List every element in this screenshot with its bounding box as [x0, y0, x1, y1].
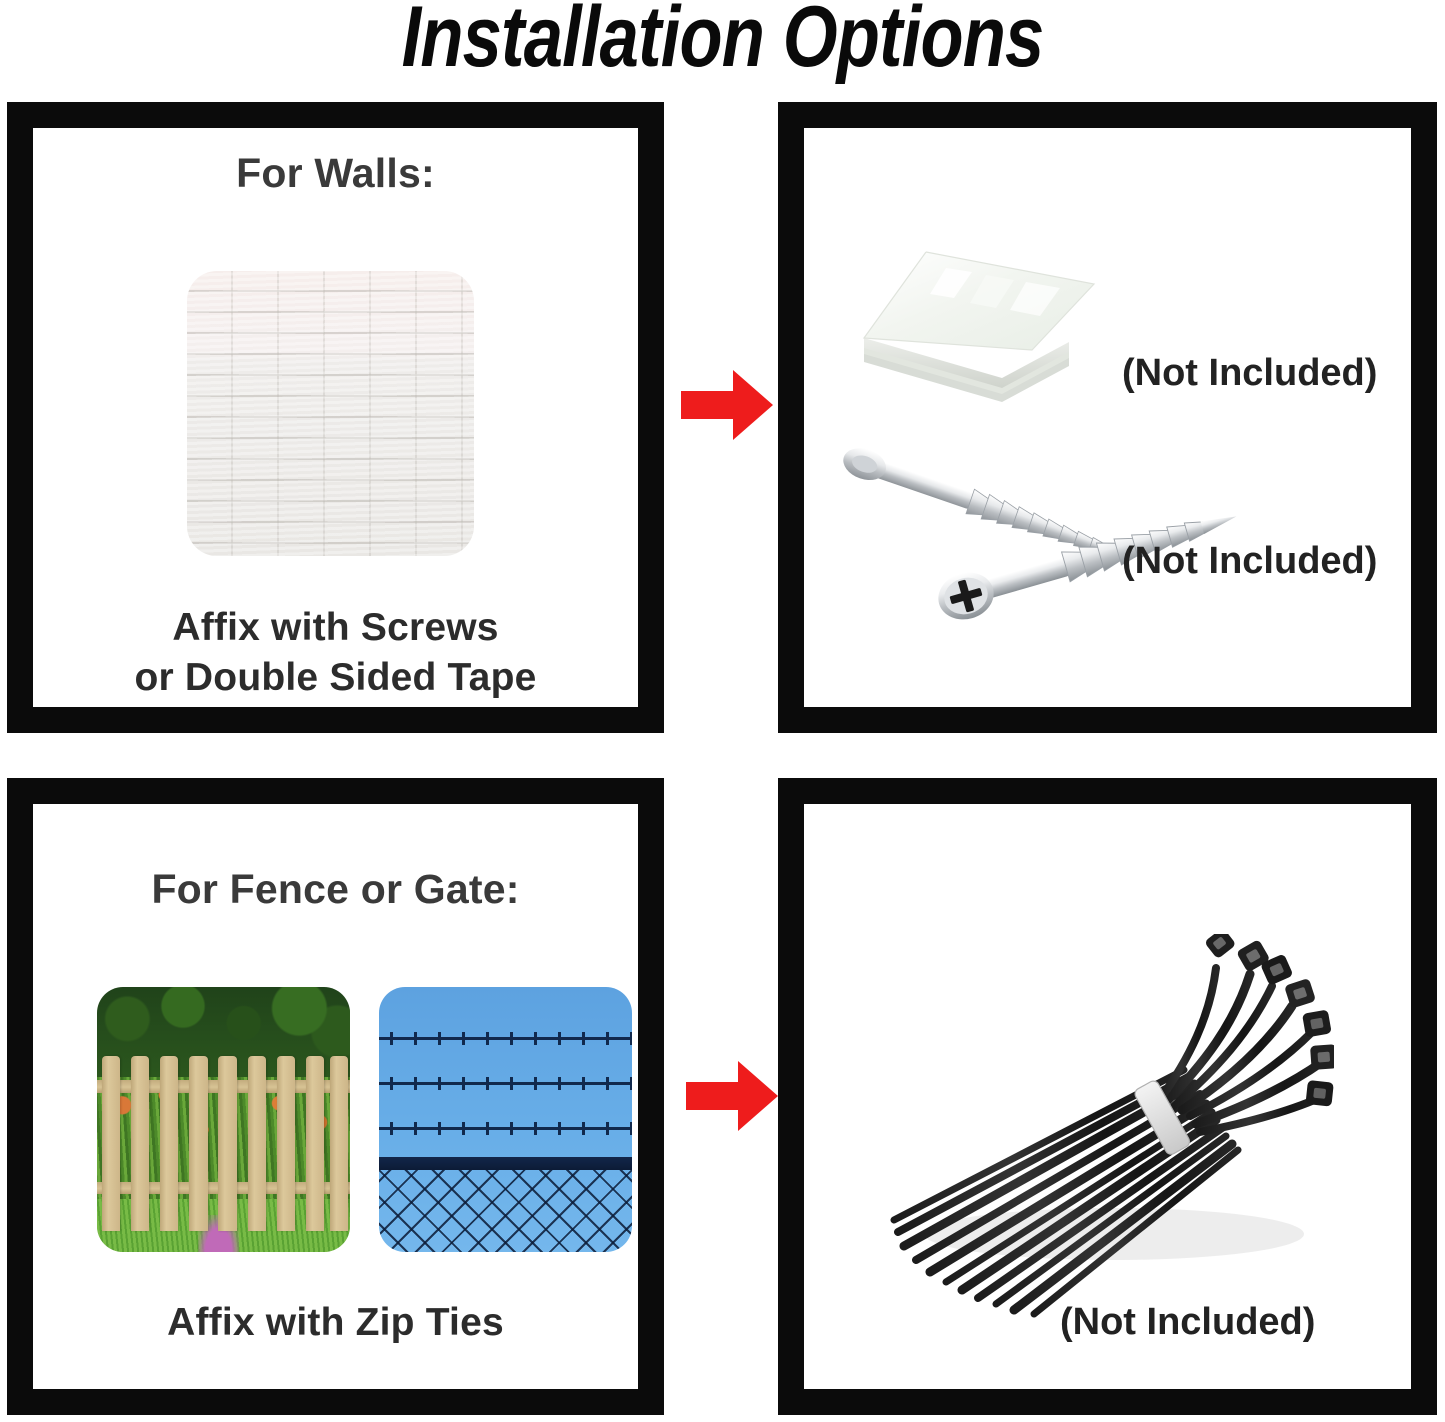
for-walls-heading: For Walls: [33, 150, 638, 197]
panel-for-fence-or-gate: For Fence or Gate: [7, 778, 664, 1415]
white-brick-wall-swatch [187, 271, 474, 556]
screws-not-included-label: (Not Included) [1122, 540, 1377, 583]
page-title: Installation Options [130, 0, 1315, 82]
panel-fence-hardware-content: (Not Included) [804, 804, 1411, 1389]
barbed-wire-strand [379, 1127, 632, 1130]
barbed-wire-strand [379, 1082, 632, 1085]
for-fence-heading: For Fence or Gate: [33, 866, 638, 913]
panel-wall-hardware-content: (Not Included) [804, 128, 1411, 707]
panel-fence-hardware: (Not Included) [778, 778, 1437, 1415]
walls-caption-line-2: or Double Sided Tape [33, 656, 638, 700]
panel-for-walls-content: For Walls: Affix with Screws or Double S… [33, 128, 638, 707]
double-sided-tape-stack-icon [854, 238, 1104, 408]
walls-caption-line-1: Affix with Screws [33, 606, 638, 650]
panel-for-walls: For Walls: Affix with Screws or Double S… [7, 102, 664, 733]
fence-caption-line-1: Affix with Zip Ties [33, 1301, 638, 1345]
chain-link-barbed-wire-fence-photo [379, 987, 632, 1252]
panel-for-fence-content: For Fence or Gate: [33, 804, 638, 1389]
wooden-picket-fence-photo [97, 987, 350, 1252]
zipties-not-included-label: (Not Included) [1060, 1301, 1315, 1344]
red-arrow-right-icon [686, 1058, 778, 1134]
fence-top-rail [379, 1157, 632, 1170]
tape-not-included-label: (Not Included) [1122, 352, 1377, 395]
black-zip-tie-bundle-icon [864, 934, 1334, 1334]
red-arrow-right-icon [681, 367, 773, 443]
barbed-wire-strand [379, 1037, 632, 1040]
chain-link-mesh [379, 1170, 632, 1252]
panel-wall-hardware: (Not Included) [778, 102, 1437, 733]
fence-pickets [97, 1056, 350, 1231]
